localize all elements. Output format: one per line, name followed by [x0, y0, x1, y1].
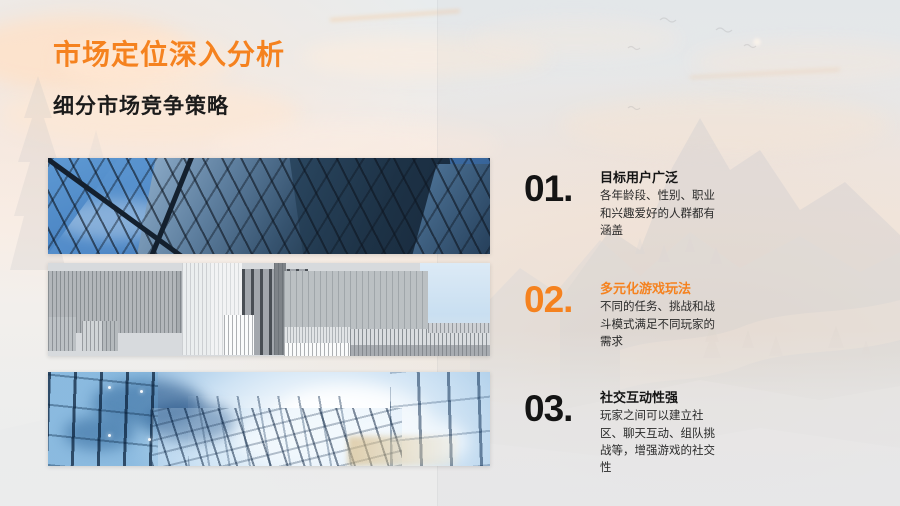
presentation-slide: 市场定位深入分析 细分市场竞争策略: [0, 0, 900, 506]
feature-heading-1: 目标用户广泛: [600, 170, 725, 186]
photo-concrete-facade: [48, 263, 490, 356]
photo-sparkle: [148, 438, 151, 441]
photo-block: [350, 345, 490, 356]
feature-number-1: 01.: [524, 170, 572, 207]
photo-block: [284, 271, 428, 333]
photo-block: [102, 321, 118, 351]
photo-block: [284, 343, 350, 356]
page-subtitle: 细分市场竞争策略: [53, 90, 229, 120]
photo-block: [224, 315, 254, 355]
feature-description-1: 各年龄段、性别、职业和兴趣爱好的人群都有涵盖: [600, 188, 725, 240]
photo-sparkle: [108, 386, 111, 389]
feature-heading-2: 多元化游戏玩法: [600, 281, 725, 297]
feature-heading-3: 社交互动性强: [600, 390, 725, 406]
photo-gold-reflection: [348, 436, 458, 466]
photo-sparkle: [108, 434, 111, 437]
photo-block: [82, 321, 102, 351]
photo-glass-towers-sky: [48, 372, 490, 466]
feature-description-3: 玩家之间可以建立社区、聊天互动、组队挑战等，增强游戏的社交性: [600, 408, 725, 477]
feature-number-2: 02.: [524, 281, 572, 318]
photo-block: [48, 317, 76, 351]
feature-description-2: 不同的任务、挑战和战斗模式满足不同玩家的需求: [600, 299, 725, 351]
feature-number-3: 03.: [524, 390, 572, 427]
photo-block: [182, 263, 210, 355]
photo-sparkle: [140, 390, 143, 393]
photo-facade-left: [48, 372, 158, 466]
photo-glass-skyscrapers: [48, 158, 490, 254]
page-title: 市场定位深入分析: [53, 33, 285, 73]
photo-block: [428, 323, 490, 333]
